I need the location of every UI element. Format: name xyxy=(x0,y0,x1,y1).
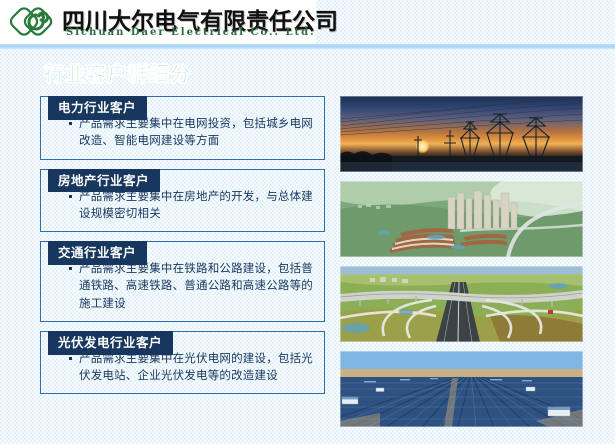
power-transmission-towers-sunset-photo xyxy=(340,96,583,172)
solar-panel-farm-photo xyxy=(340,351,583,427)
list-item: 产品需求主要集中在电网投资，包括城乡电网改造、智能电网建设等方面 xyxy=(51,115,316,150)
industry-block-heading: 交通行业客户 xyxy=(48,241,147,265)
square-bullet-icon xyxy=(69,195,72,198)
industry-block-text: 产品需求主要集中在光伏电网的建设，包括光伏发电站、企业光伏发电等的改造建设 xyxy=(79,350,316,385)
industry-block-heading: 房地产行业客户 xyxy=(48,169,160,193)
industry-block-real-estate: 房地产行业客户 产品需求主要集中在房地产的开发，与总体建设规模密切相关 xyxy=(40,169,325,233)
square-bullet-icon xyxy=(69,267,72,270)
industry-block-heading: 电力行业客户 xyxy=(48,96,147,120)
industry-block-photovoltaic: 光伏发电行业客户 产品需求主要集中在光伏电网的建设，包括光伏发电站、企业光伏发电… xyxy=(40,331,325,395)
company-name-english: Sichuan Daer Electrical Co.. Ltd. xyxy=(66,27,316,38)
industry-block-heading: 光伏发电行业客户 xyxy=(48,331,173,355)
residential-development-aerial-photo xyxy=(340,181,583,257)
industry-block-text: 产品需求主要集中在房地产的开发，与总体建设规模密切相关 xyxy=(79,188,316,223)
company-header-band: 四川大尔电气有限责任公司 Sichuan Daer Electrical Co.… xyxy=(0,0,316,44)
industry-block-transportation: 交通行业客户 产品需求主要集中在铁路和公路建设，包括普通铁路、高速铁路、普通公路… xyxy=(40,241,325,322)
header-divider-rule xyxy=(0,44,615,49)
list-item: 产品需求主要集中在光伏电网的建设，包括光伏发电站、企业光伏发电等的改造建设 xyxy=(51,350,316,385)
slide-canvas: 四川大尔电气有限责任公司 Sichuan Daer Electrical Co.… xyxy=(0,0,615,444)
industry-block-power: 电力行业客户 产品需求主要集中在电网投资，包括城乡电网改造、智能电网建设等方面 xyxy=(40,96,325,160)
photo-column xyxy=(340,96,583,427)
industry-block-text: 产品需求主要集中在铁路和公路建设，包括普通铁路、高速铁路、普通公路和高速公路等的… xyxy=(79,260,316,312)
industry-block-text: 产品需求主要集中在电网投资，包括城乡电网改造、智能电网建设等方面 xyxy=(79,115,316,150)
list-item: 产品需求主要集中在铁路和公路建设，包括普通铁路、高速铁路、普通公路和高速公路等的… xyxy=(51,260,316,312)
daer-logo-icon xyxy=(10,4,64,40)
square-bullet-icon xyxy=(69,357,72,360)
industry-segment-list: 电力行业客户 产品需求主要集中在电网投资，包括城乡电网改造、智能电网建设等方面 … xyxy=(40,96,325,403)
highway-interchange-aerial-photo xyxy=(340,266,583,342)
list-item: 产品需求主要集中在房地产的开发，与总体建设规模密切相关 xyxy=(51,188,316,223)
page-title: 行业客户群细分 xyxy=(44,58,191,87)
square-bullet-icon xyxy=(69,122,72,125)
